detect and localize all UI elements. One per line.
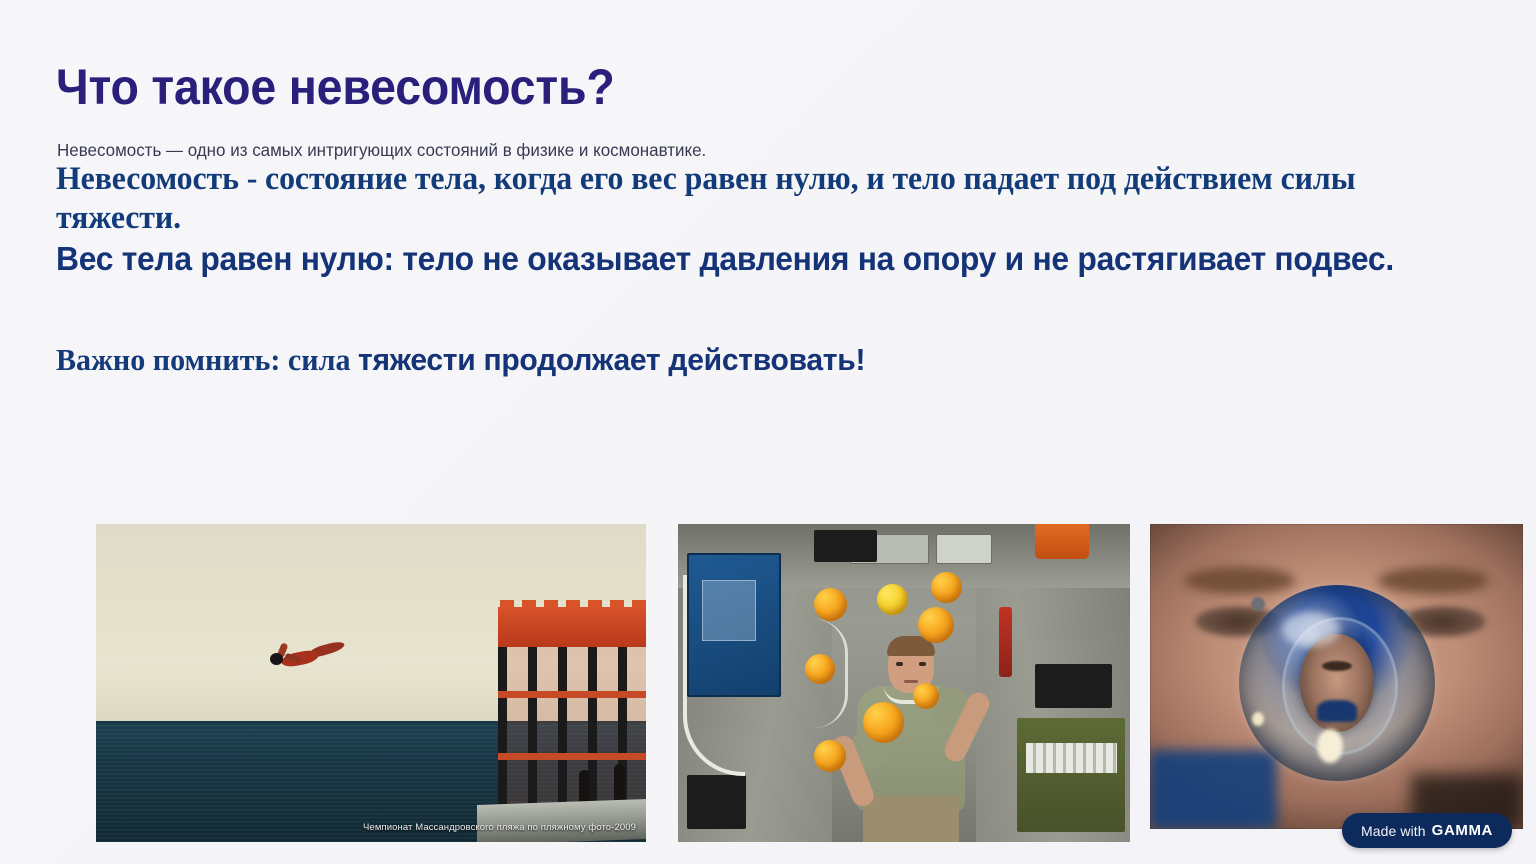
white-cable-loop <box>683 575 746 776</box>
image-gallery: Чемпионат Массандровского пляжа по пляжн… <box>0 508 1536 838</box>
pier-rail-upper <box>498 691 647 698</box>
diver-head <box>270 653 283 665</box>
pier-person-left <box>579 770 590 802</box>
floating-orange-8 <box>814 740 846 772</box>
slide-canvas: Что такое невесомость? Невесомость — одн… <box>0 0 1536 864</box>
sphere-glint-side <box>1252 712 1264 726</box>
note-sans-run: тяжести продолжает действовать! <box>358 342 865 377</box>
important-note: Важно помнить: сила тяжести продолжает д… <box>56 341 1433 378</box>
cliff-diver-photo[interactable]: Чемпионат Массандровского пляжа по пляжн… <box>96 524 646 842</box>
face-brow-left <box>1184 567 1296 594</box>
diver-figure <box>267 642 345 672</box>
floating-orange-3 <box>931 572 962 603</box>
sphere-glint-lower <box>1317 729 1343 763</box>
weight-paragraph: Вес тела равен нулю: тело не оказывает д… <box>56 239 1426 279</box>
floating-orange-1 <box>814 588 847 621</box>
ceiling-panel-2 <box>936 534 992 565</box>
definition-paragraph: Невесомость - состояние тела, когда его … <box>56 160 1426 237</box>
pier-roof <box>498 607 647 647</box>
floating-orange-5 <box>805 654 835 684</box>
photo-caption: Чемпионат Массандровского пляжа по пляжн… <box>363 822 636 833</box>
cosmonaut-trousers <box>863 796 959 842</box>
orange-stowage-bag <box>1035 524 1089 559</box>
cosmonaut-figure <box>850 638 972 842</box>
badge-brand-label: GAMMA <box>1432 822 1493 839</box>
green-equipment-rack <box>1017 718 1125 832</box>
pier-structure <box>498 607 647 842</box>
page-title: Что такое невесомость? <box>56 58 615 116</box>
dark-equipment-1 <box>687 775 746 829</box>
badge-made-with-label: Made with <box>1361 823 1426 839</box>
cliff-diver-scene <box>96 524 646 842</box>
floating-orange-6 <box>913 683 939 709</box>
floating-water-sphere <box>1239 585 1435 781</box>
blue-suit-shoulder <box>1150 750 1277 829</box>
water-sphere-scene <box>1150 524 1523 829</box>
water-sphere-photo[interactable] <box>1150 524 1523 829</box>
made-with-gamma-badge[interactable]: Made with GAMMA <box>1342 813 1512 848</box>
dark-equipment-2 <box>1035 664 1112 709</box>
pier-person-right <box>614 764 625 802</box>
floating-orange-4 <box>918 607 954 643</box>
face-brow-right <box>1378 567 1490 594</box>
pier-rail-lower <box>498 753 647 760</box>
dark-equipment-3 <box>814 530 877 562</box>
red-tank <box>999 607 1013 677</box>
pier-deck <box>477 799 646 842</box>
floating-orange-2 <box>877 584 908 615</box>
intro-text: Невесомость — одно из самых интригующих … <box>57 140 706 161</box>
body-text-block: Невесомость - состояние тела, когда его … <box>56 160 1476 378</box>
iss-juggling-photo[interactable] <box>678 524 1130 842</box>
note-serif-run: Важно помнить: сила <box>56 342 358 377</box>
iss-module-scene <box>678 524 1130 842</box>
floating-droplet-left <box>1251 597 1265 611</box>
